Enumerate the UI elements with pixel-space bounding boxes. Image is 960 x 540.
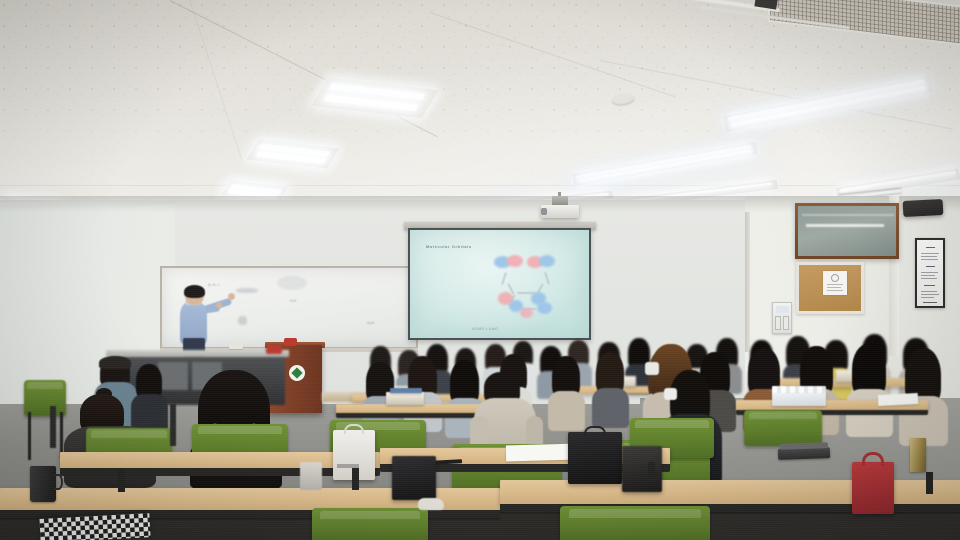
checkered-coat — [39, 513, 150, 540]
textbook — [390, 388, 422, 393]
instructor-hand — [228, 293, 235, 300]
projection-screen: Molecular Orbitals HOMO LUMO — [408, 228, 591, 340]
travel-mug — [30, 466, 56, 502]
chair-leg — [28, 412, 31, 460]
black-backpack — [392, 456, 436, 500]
classroom-chair[interactable] — [560, 506, 710, 540]
whiteboard-smudge — [238, 316, 247, 325]
instructor — [176, 286, 236, 358]
drink-can — [910, 438, 926, 472]
notice-content — [917, 240, 943, 306]
loose-paper — [878, 393, 919, 406]
switch-label — [776, 306, 789, 313]
classroom-chair[interactable] — [312, 508, 428, 540]
desk-leg — [648, 462, 655, 482]
observation-window — [795, 203, 899, 259]
desk-leg — [352, 468, 359, 490]
whiteboard-smudge — [236, 288, 258, 293]
ceiling-seam — [0, 185, 960, 186]
cork-notice-board — [796, 262, 864, 314]
instructor-hair — [184, 285, 205, 298]
observation-window-glass — [798, 206, 896, 256]
orbital-lobe — [507, 255, 523, 267]
university-emblem — [289, 365, 305, 381]
desk-leg — [926, 472, 933, 494]
red-tote-bag — [852, 462, 894, 514]
tote-bag-handle — [862, 452, 884, 466]
wall-speaker — [903, 199, 944, 217]
window-reflection — [806, 224, 884, 227]
orbital-lobe — [537, 302, 552, 314]
desk-leg — [170, 404, 176, 446]
projected-slide: Molecular Orbitals HOMO LUMO — [410, 230, 589, 338]
slide-title: Molecular Orbitals — [426, 244, 472, 249]
student-cap — [99, 356, 131, 369]
lectern-item — [284, 338, 297, 346]
projector-lens — [541, 208, 547, 215]
desk-leg — [50, 406, 56, 448]
instructor-hand — [216, 302, 222, 308]
tissue-box-top — [772, 386, 826, 393]
framed-wall-notice — [915, 238, 945, 308]
sneaker — [418, 498, 444, 510]
orbital-lobe — [539, 255, 555, 267]
shoulder-bag — [622, 446, 662, 492]
notebook-stack — [386, 392, 424, 405]
desk-edge — [60, 468, 380, 476]
tissue-box — [772, 392, 826, 406]
face-mask — [645, 362, 659, 375]
classroom-chair[interactable] — [24, 380, 66, 416]
slide-caption: HOMO LUMO — [472, 327, 498, 331]
light-switch-panel[interactable] — [772, 302, 792, 334]
pinned-notice — [823, 271, 847, 295]
red-item-on-cabinet — [266, 345, 282, 354]
trash-bin — [300, 462, 322, 490]
whiteboard-smudge — [277, 276, 307, 290]
whiteboard-note: CH — [290, 298, 297, 303]
whiteboard-note: mol — [367, 320, 375, 325]
classroom-photo: Δ H = CH mol Molecular Orbitals — [0, 0, 960, 540]
shopping-bag-handle — [344, 424, 364, 434]
window-reflection — [802, 214, 894, 216]
cabinet-panel — [158, 362, 188, 390]
backpack-handle — [584, 426, 606, 436]
classroom-chair[interactable] — [744, 410, 822, 446]
desk-leg — [118, 470, 125, 492]
notice-seal-icon — [831, 274, 839, 282]
face-mask — [664, 388, 677, 400]
cabinet-top — [106, 350, 289, 357]
mug-handle — [54, 474, 63, 490]
wall-corner-left — [745, 212, 750, 352]
orbital-lobe — [520, 308, 533, 318]
emblem-diamond-icon — [291, 367, 302, 378]
black-backpack — [568, 432, 622, 484]
